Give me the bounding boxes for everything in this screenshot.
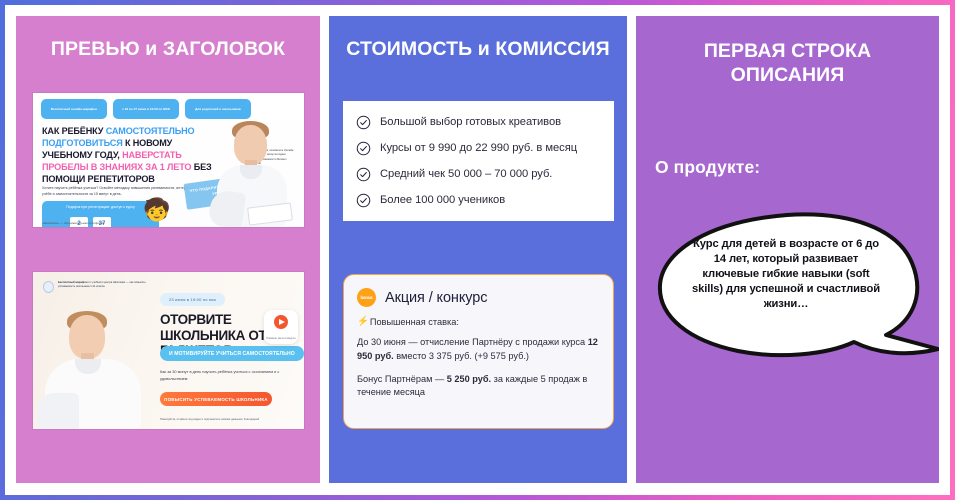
promo-p2-seg1: Бонус Партнёрам — bbox=[357, 374, 447, 384]
checklist-item-label: Более 100 000 учеников bbox=[380, 194, 505, 207]
creative-b-footer: Пожалуйста, оставьте под видео и подпиши… bbox=[160, 418, 300, 422]
slide-canvas: ПРЕВЬЮ и ЗАГОЛОВОК Бесплатный онлайн-мар… bbox=[5, 5, 950, 495]
bonus-badge-icon: bonus bbox=[357, 288, 376, 307]
description-panel-title: ПЕРВАЯ СТРОКА ОПИСАНИЯ bbox=[636, 16, 939, 88]
creative-screenshot-landing[interactable]: Бесплатный онлайн-марафон с 23 по 27 июн… bbox=[33, 93, 304, 227]
creative-b-subtitle-badge: И МОТИВИРУЙТЕ УЧИТЬСЯ САМОСТОЯТЕЛЬНО bbox=[160, 346, 304, 361]
promo-paragraph-1: До 30 июня — отчисление Партнёру с прода… bbox=[357, 336, 600, 364]
promo-card: bonus Акция / конкурс ⚡ Повышенная ставк… bbox=[343, 274, 614, 429]
creative-a-pill-2: с 23 по 27 июня в 19:00 по МСК bbox=[113, 99, 179, 119]
creative-a-gift-label: Подарок при регистрации: доступ к курсу bbox=[42, 205, 159, 210]
creative-b-cta-button[interactable]: ПОВЫСИТЬ УСПЕВАЕМОСТЬ ШКОЛЬНИКА bbox=[160, 392, 272, 406]
creative-b-video-card[interactable]: Покажем, как за 3 минуты bbox=[264, 310, 298, 344]
preview-panel-title: ПРЕВЬЮ и ЗАГОЛОВОК bbox=[16, 16, 320, 61]
pricing-checklist-card: Большой выбор готовых креативов Курсы от… bbox=[343, 101, 614, 221]
check-circle-icon bbox=[356, 193, 371, 208]
creative-a-pill-3-label: Для родителей и школьников bbox=[195, 107, 241, 111]
creative-b-date-badge: 23 июня в 19:00 по мск bbox=[160, 293, 225, 306]
panel-description: ПЕРВАЯ СТРОКА ОПИСАНИЯ О продукте: Курс … bbox=[636, 16, 939, 483]
speech-bubble-text: Курс для детей в возрасте от 6 до 14 лет… bbox=[688, 237, 884, 311]
checklist-item-label: Средний чек 50 000 – 70 000 руб. bbox=[380, 168, 552, 181]
creative-a-pill-1-label: Бесплатный онлайн-марафон bbox=[51, 107, 97, 111]
promo-paragraph-2: Бонус Партнёрам — 5 250 руб. за каждые 5… bbox=[357, 373, 600, 401]
checklist-item: Большой выбор готовых креативов bbox=[356, 115, 603, 130]
promo-title: Акция / конкурс bbox=[385, 290, 487, 306]
promo-p1-seg1: До 30 июня — отчисление Партнёру с прода… bbox=[357, 337, 588, 347]
creative-a-heading-seg-1: КАК РЕБЁНКУ bbox=[42, 126, 106, 136]
check-circle-icon bbox=[356, 141, 371, 156]
checklist-item-label: Большой выбор готовых креативов bbox=[380, 116, 561, 129]
creative-b-paragraph: Как за 30 минут в день научить ребёнка у… bbox=[160, 369, 290, 383]
promo-header: bonus Акция / конкурс bbox=[357, 288, 600, 307]
creative-a-pills: Бесплатный онлайн-марафон с 23 по 27 июн… bbox=[41, 99, 251, 119]
description-subtitle: О продукте: bbox=[655, 157, 760, 178]
creative-a-subtext: Хотите научить ребёнка учиться? Освойте … bbox=[42, 185, 202, 197]
creative-a-heading: КАК РЕБЁНКУ САМОСТОЯТЕЛЬНО ПОДГОТОВИТЬСЯ… bbox=[42, 125, 222, 185]
play-icon bbox=[274, 315, 288, 329]
promo-p1-seg3: вместо 3 375 руб. (+9 575 руб.) bbox=[394, 351, 529, 361]
speech-bubble: Курс для детей в возрасте от 6 до 14 лет… bbox=[654, 211, 939, 391]
creative-a-pill-2-label: с 23 по 27 июня в 19:00 по МСК bbox=[122, 107, 170, 111]
creative-screenshot-webinar[interactable]: Бесплатный марафон от учебного центра Шк… bbox=[33, 272, 304, 429]
creative-a-person-photo bbox=[204, 119, 300, 227]
panel-preview: ПРЕВЬЮ и ЗАГОЛОВОК Бесплатный онлайн-мар… bbox=[16, 16, 320, 483]
slide-frame: ПРЕВЬЮ и ЗАГОЛОВОК Бесплатный онлайн-мар… bbox=[0, 0, 955, 500]
creative-b-logo-title: Бесплатный марафон bbox=[58, 281, 88, 284]
creative-b-logo: Бесплатный марафон от учебного центра Шк… bbox=[43, 281, 150, 293]
lightning-icon: ⚡ bbox=[357, 317, 369, 327]
promo-rate-label: Повышенная ставка: bbox=[370, 317, 459, 327]
checklist-item: Курсы от 9 990 до 22 990 руб. в месяц bbox=[356, 141, 603, 156]
creative-b-play-caption: Покажем, как за 3 минуты bbox=[266, 337, 296, 341]
creative-a-pill-3: Для родителей и школьников bbox=[185, 99, 251, 119]
creative-a-pill-1: Бесплатный онлайн-марафон bbox=[41, 99, 107, 119]
creative-a-gift-illustration: 🧒 bbox=[143, 197, 170, 223]
promo-rate-line: ⚡ Повышенная ставка: bbox=[357, 317, 600, 327]
check-circle-icon bbox=[356, 115, 371, 130]
panel-pricing: СТОИМОСТЬ и КОМИССИЯ Большой выбор готов… bbox=[329, 16, 627, 483]
creative-b-logo-mark bbox=[43, 281, 54, 293]
pricing-panel-title: СТОИМОСТЬ и КОМИССИЯ bbox=[329, 16, 627, 61]
check-circle-icon bbox=[356, 167, 371, 182]
creative-b-person-photo bbox=[35, 301, 151, 429]
checklist-item: Более 100 000 учеников bbox=[356, 193, 603, 208]
checklist-item-label: Курсы от 9 990 до 22 990 руб. в месяц bbox=[380, 142, 577, 155]
promo-p2-seg2: 5 250 руб. bbox=[447, 374, 491, 384]
checklist-item: Средний чек 50 000 – 70 000 руб. bbox=[356, 167, 603, 182]
